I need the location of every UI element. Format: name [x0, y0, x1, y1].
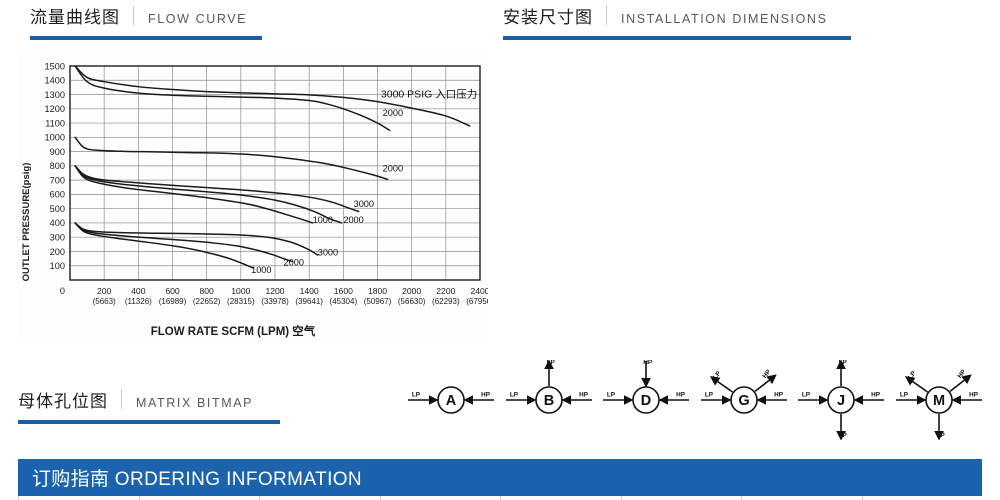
flow-curve-chart: 200(5663)400(11326)600(16989)800(22652)1… — [18, 52, 488, 340]
x-tick-label: 1400 — [300, 286, 319, 296]
x-tick-label-lpm: (16989) — [159, 297, 187, 306]
x-tick-label-lpm: (5663) — [93, 297, 116, 306]
flow-curve-svg: 200(5663)400(11326)600(16989)800(22652)1… — [18, 52, 488, 340]
section-title-en: MATRIX BITMAP — [122, 397, 253, 411]
chart-annotation: 3000 — [318, 248, 338, 258]
y-tick-label: 300 — [50, 233, 65, 243]
section-header-flow-curve: 流量曲线图 FLOW CURVE — [30, 6, 262, 40]
chart-annotation: 2000 — [383, 164, 403, 174]
y-tick-label: 500 — [50, 204, 65, 214]
port-letter: M — [933, 393, 945, 409]
x-tick-label: 800 — [199, 286, 214, 296]
chart-y-axis-label: OUTLET PRESSURE(psig) — [21, 163, 32, 282]
chart-annotation: 2000 — [343, 215, 363, 225]
x-tick-label-lpm: (28315) — [227, 297, 255, 306]
ordering-table-column — [139, 496, 260, 500]
section-header-matrix-bitmap: 母体孔位图 MATRIX BITMAP — [18, 390, 280, 424]
port-diagram-b: LPHPLPB — [503, 360, 595, 440]
port-letter: A — [446, 393, 457, 409]
section-title-cn: 安装尺寸图 — [503, 9, 606, 26]
port-arm-label: LP — [900, 392, 909, 399]
port-diagram-j: LPHPLPLPJ — [795, 360, 887, 440]
port-arm-label: HP — [579, 392, 589, 399]
chart-curve — [75, 223, 253, 268]
chart-curve — [75, 137, 388, 179]
chart-annotation: 2000 — [284, 258, 304, 268]
chart-x-tick-labels: 200(5663)400(11326)600(16989)800(22652)1… — [93, 286, 488, 306]
x-tick-label: 200 — [97, 286, 112, 296]
y-tick-label: 1500 — [45, 61, 65, 71]
ordering-table-column — [259, 496, 380, 500]
port-letter: J — [837, 393, 845, 409]
y-tick-label: 1300 — [45, 90, 65, 100]
port-diagram-svg: LPHPLPB — [503, 360, 595, 440]
y-tick-label: 100 — [50, 261, 65, 271]
port-arm-label: LP — [546, 360, 555, 366]
ordering-table-column — [380, 496, 501, 500]
chart-annotation: 1000 — [313, 215, 333, 225]
x-tick-label: 2000 — [402, 286, 421, 296]
chart-curve — [75, 166, 359, 212]
port-arm-label: HP — [643, 360, 653, 366]
chart-annotation: 1000 — [251, 265, 271, 275]
port-letter: D — [641, 393, 651, 409]
port-arm-label: HP — [871, 392, 881, 399]
section-accent-bar — [503, 36, 851, 40]
section-title-cn: 母体孔位图 — [18, 393, 121, 410]
port-arm-label: LP — [839, 432, 848, 439]
x-tick-label-lpm: (22652) — [193, 297, 221, 306]
chart-curve — [75, 66, 389, 130]
ordering-information-banner: 订购指南 ORDERING INFORMATION — [18, 459, 982, 496]
port-arm-label: HP — [774, 392, 784, 399]
chart-curve — [75, 223, 292, 262]
ordering-title-en: ORDERING INFORMATION — [115, 469, 362, 490]
x-tick-label-lpm: (39641) — [295, 297, 323, 306]
section-title-en: INSTALLATION DIMENSIONS — [607, 13, 828, 27]
x-tick-label: 1600 — [334, 286, 353, 296]
port-diagram-m: LPHPLPHPLPM — [893, 360, 985, 440]
x-tick-label: 2400 — [470, 286, 488, 296]
port-diagram-g: LPHPLPHPG — [698, 360, 790, 440]
chart-annotation: 3000 — [354, 199, 374, 209]
ordering-table-column — [621, 496, 742, 500]
port-diagram-svg: LPHPA — [405, 360, 497, 440]
port-diagram-a: LPHPA — [405, 360, 497, 440]
y-tick-label-zero: 0 — [60, 286, 65, 296]
port-arm-label: HP — [969, 392, 979, 399]
x-tick-label-lpm: (11326) — [125, 297, 152, 306]
y-tick-label: 400 — [50, 218, 65, 228]
ordering-table-column — [741, 496, 862, 500]
port-arm-label: HP — [676, 392, 686, 399]
y-tick-label: 700 — [50, 175, 65, 185]
port-arm-label: LP — [412, 392, 421, 399]
x-tick-label-lpm: (45304) — [330, 297, 358, 306]
y-tick-label: 600 — [50, 190, 65, 200]
port-arm-label: LP — [937, 432, 946, 439]
port-diagram-svg: LPHPLPLPJ — [795, 360, 887, 440]
chart-annotation: 2000 — [383, 108, 403, 118]
section-title-cn: 流量曲线图 — [30, 9, 133, 26]
port-diagram-d: LPHPHPD — [600, 360, 692, 440]
section-accent-bar — [18, 420, 280, 424]
ordering-table-column — [18, 496, 139, 500]
x-tick-label-lpm: (62293) — [432, 297, 460, 306]
ordering-banner-text: 订购指南 ORDERING INFORMATION — [18, 464, 362, 491]
x-tick-label-lpm: (56630) — [398, 297, 426, 306]
section-header-row: 安装尺寸图 INSTALLATION DIMENSIONS — [503, 6, 851, 26]
port-diagram-svg: LPHPLPHPLPM — [893, 360, 985, 440]
y-tick-label: 900 — [50, 147, 65, 157]
section-header-row: 母体孔位图 MATRIX BITMAP — [18, 390, 280, 410]
port-diagram-svg: LPHPHPD — [600, 360, 692, 440]
chart-x-axis-label: FLOW RATE SCFM (LPM) 空气 — [151, 324, 316, 338]
y-tick-label: 200 — [50, 247, 65, 257]
x-tick-label: 600 — [165, 286, 180, 296]
x-tick-label: 400 — [131, 286, 146, 296]
x-tick-label: 1800 — [368, 286, 387, 296]
y-tick-label: 1200 — [45, 104, 65, 114]
section-header-installation-dimensions: 安装尺寸图 INSTALLATION DIMENSIONS — [503, 6, 851, 40]
port-arm-label: LP — [705, 392, 714, 399]
matrix-port-diagram-row: LPHPALPHPLPBLPHPHPDLPHPLPHPGLPHPLPLPJLPH… — [405, 360, 985, 440]
ordering-table-column — [500, 496, 621, 500]
port-diagram-svg: LPHPLPHPG — [698, 360, 790, 440]
ordering-title-cn: 订购指南 — [32, 469, 109, 490]
port-arm-label: LP — [839, 360, 848, 366]
y-tick-label: 800 — [50, 161, 65, 171]
x-tick-label-lpm: (50967) — [364, 297, 392, 306]
y-tick-label: 1100 — [45, 118, 65, 128]
port-arm-label: LP — [802, 392, 811, 399]
section-header-row: 流量曲线图 FLOW CURVE — [30, 6, 262, 26]
y-tick-label: 1000 — [45, 133, 65, 143]
chart-y-tick-labels: 1002003004005006007008009001000110012001… — [45, 61, 65, 296]
x-tick-label: 1000 — [231, 286, 250, 296]
x-tick-label-lpm: (67956) — [466, 297, 488, 306]
y-tick-label: 1400 — [45, 76, 65, 86]
section-accent-bar — [30, 36, 262, 40]
port-letter: G — [738, 393, 749, 409]
port-arm-label: LP — [607, 392, 616, 399]
x-tick-label: 1200 — [265, 286, 284, 296]
x-tick-label-lpm: (33978) — [261, 297, 289, 306]
ordering-information-table — [18, 496, 982, 500]
section-title-en: FLOW CURVE — [134, 13, 247, 27]
x-tick-label: 2200 — [436, 286, 455, 296]
port-arm-label: HP — [481, 392, 491, 399]
port-letter: B — [543, 393, 553, 409]
port-arm-label: LP — [509, 392, 518, 399]
chart-annotation: 3000 PSIG 入口压力 — [381, 87, 477, 100]
ordering-table-column — [862, 496, 983, 500]
